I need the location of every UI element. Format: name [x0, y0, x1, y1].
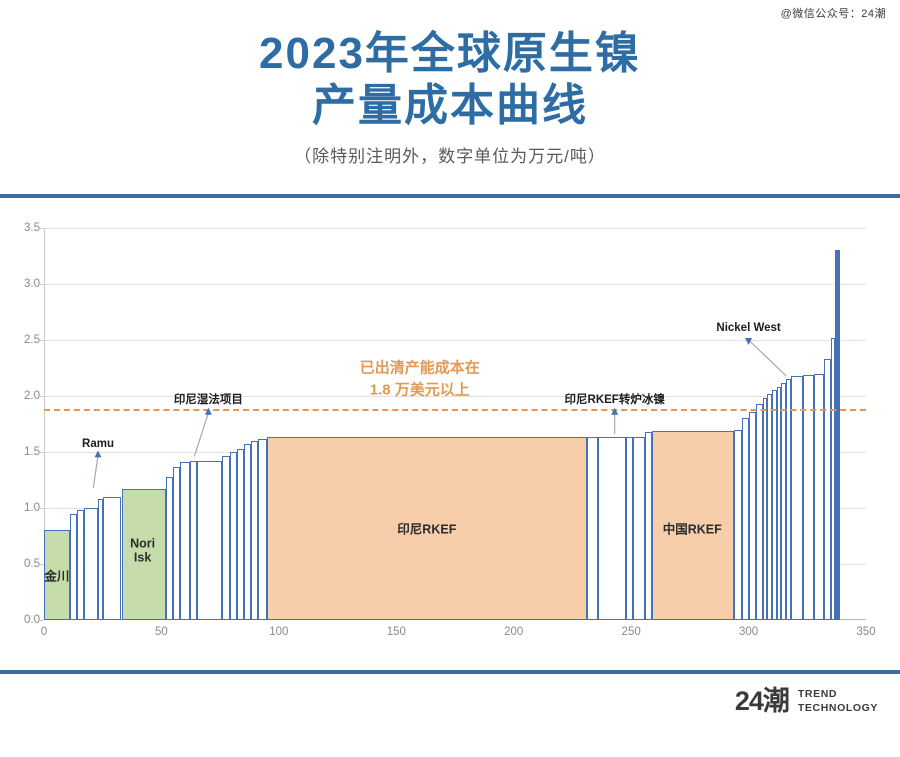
cost-curve-bar	[222, 456, 229, 620]
y-axis-tick-mark	[40, 340, 44, 341]
y-axis-tick-mark	[40, 452, 44, 453]
cost-curve-chart: 0.00.51.01.52.02.53.03.50501001502002503…	[0, 214, 900, 654]
gridline	[44, 228, 866, 229]
page-title-line-2: 产量成本曲线	[0, 80, 900, 132]
logo-text: TREND TECHNOLOGY	[798, 688, 878, 714]
cost-curve-bar	[756, 404, 763, 620]
page-title-line-1: 2023年全球原生镍	[0, 28, 900, 80]
cost-curve-bar	[197, 461, 223, 620]
cost-curve-bar	[77, 510, 84, 620]
y-axis-tick-mark	[40, 620, 44, 621]
y-axis-tick-label: 3.0	[24, 278, 40, 290]
x-axis-tick-label: 300	[739, 626, 758, 638]
cost-curve-bar	[626, 437, 633, 620]
cost-curve-bar	[824, 359, 831, 620]
page-subtitle: （除特别注明外，数字单位为万元/吨）	[0, 142, 900, 167]
x-axis-tick-label: 50	[155, 626, 168, 638]
cost-threshold-line	[44, 409, 866, 411]
cost-curve-bar	[742, 418, 749, 620]
cost-curve-bar	[598, 437, 626, 620]
chart-callout-label: 印尼湿法项目	[174, 391, 243, 407]
cost-curve-bar	[190, 461, 197, 620]
cost-curve-bar	[84, 508, 98, 620]
chart-callout-label: 印尼RKEF转炉冰镍	[565, 391, 665, 407]
watermark: @微信公众号：24潮	[781, 5, 886, 21]
x-axis-tick-label: 150	[387, 626, 406, 638]
cost-curve-bar	[791, 376, 803, 620]
cost-curve-bar	[645, 432, 652, 620]
y-axis-tick-label: 0.5	[24, 558, 40, 570]
brand-logo: 24潮 TREND TECHNOLOGY	[735, 688, 878, 715]
cost-curve-bar	[230, 452, 237, 620]
cost-curve-bar	[244, 444, 251, 620]
y-axis-tick-mark	[40, 396, 44, 397]
plot-area: 0.00.51.01.52.02.53.03.50501001502002503…	[44, 228, 866, 620]
chart-note: 已出清产能成本在1.8 万美元以上	[360, 357, 480, 401]
y-axis-tick-mark	[40, 228, 44, 229]
chart-callout-label: Ramu	[82, 438, 114, 450]
cost-curve-bar	[835, 250, 840, 620]
cost-curve-bar	[587, 437, 599, 620]
x-axis-tick-label: 200	[504, 626, 523, 638]
gridline	[44, 340, 866, 341]
cost-curve-bar	[237, 449, 244, 620]
gridline	[44, 284, 866, 285]
y-axis-tick-label: 2.0	[24, 390, 40, 402]
logo-text-line-2: TECHNOLOGY	[798, 702, 878, 715]
bar-series	[44, 228, 866, 620]
cost-curve-bar	[180, 462, 189, 620]
x-axis-tick-label: 250	[622, 626, 641, 638]
logo-mark: 24潮	[735, 688, 789, 715]
title-block: 2023年全球原生镍 产量成本曲线 （除特别注明外，数字单位为万元/吨）	[0, 28, 900, 167]
x-axis-tick-label: 350	[856, 626, 875, 638]
cost-curve-bar	[258, 439, 267, 620]
chart-block-label: 金川	[44, 566, 69, 585]
cost-curve-bar	[103, 497, 122, 620]
cost-curve-bar	[251, 441, 258, 620]
cost-curve-bar	[633, 437, 645, 620]
cost-curve-bar	[166, 477, 173, 620]
y-axis-tick-label: 3.5	[24, 222, 40, 234]
cost-curve-bar	[70, 514, 77, 620]
divider-bottom	[0, 670, 900, 674]
divider-top	[0, 194, 900, 198]
cost-curve-bar	[734, 430, 741, 620]
chart-block-label: NoriIsk	[128, 536, 158, 565]
x-axis-tick-label: 0	[41, 626, 47, 638]
y-axis-tick-mark	[40, 508, 44, 509]
y-axis-tick-label: 0.0	[24, 614, 40, 626]
chart-block-label: 中国RKEF	[663, 519, 722, 538]
cost-curve-bar	[749, 412, 756, 620]
y-axis-tick-label: 1.0	[24, 502, 40, 514]
y-axis-tick-label: 2.5	[24, 334, 40, 346]
chart-block-label: 印尼RKEF	[397, 519, 456, 538]
y-axis-tick-label: 1.5	[24, 446, 40, 458]
cost-curve-bar	[803, 375, 815, 620]
x-axis-tick-label: 100	[269, 626, 288, 638]
y-axis-tick-mark	[40, 284, 44, 285]
cost-curve-bar	[173, 467, 180, 620]
logo-text-line-1: TREND	[798, 688, 878, 701]
chart-callout-label: Nickel West	[716, 322, 780, 334]
